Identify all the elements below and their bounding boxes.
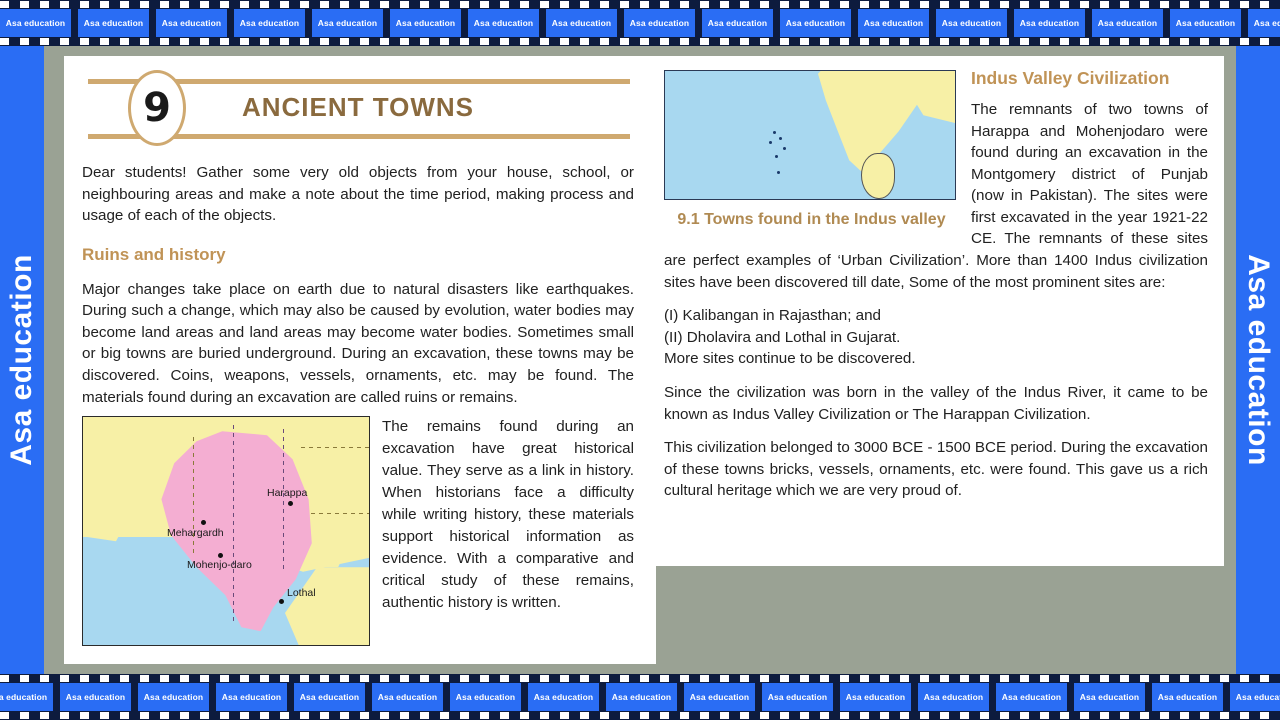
film-frame-label: Asa education xyxy=(318,18,377,28)
film-frame-label: Asa education xyxy=(786,18,845,28)
film-frame-label: Asa education xyxy=(768,692,827,702)
film-frame-label: Asa education xyxy=(162,18,221,28)
film-frame-label: Asa education xyxy=(1080,692,1139,702)
site-list-item-1: (I) Kalibangan in Rajasthan; and xyxy=(664,305,1208,327)
film-frame-label: Asa education xyxy=(84,18,143,28)
film-frame: Asa education xyxy=(156,9,227,37)
film-frame: Asa education xyxy=(78,9,149,37)
film-perforations-bottom xyxy=(0,712,1280,719)
film-perforations-top xyxy=(0,1,1280,8)
prominent-sites-list: (I) Kalibangan in Rajasthan; and (II) Dh… xyxy=(664,305,1208,370)
film-frame: Asa education xyxy=(294,683,365,711)
film-frame: Asa education xyxy=(312,9,383,37)
film-frame-label: Asa education xyxy=(708,18,767,28)
film-frame: Asa education xyxy=(858,9,929,37)
film-frame: Asa education xyxy=(996,683,1067,711)
figure-side-paragraph: The remains found during an excavation h… xyxy=(382,416,634,614)
textbook-page-right: 9.1 Towns found in the Indus valley Indu… xyxy=(656,56,1224,566)
indus-paragraph-2: Since the civilization was born in the v… xyxy=(664,382,1208,425)
film-frame: Asa education xyxy=(762,683,833,711)
film-frame: Asa education xyxy=(936,9,1007,37)
film-frame: Asa education xyxy=(450,683,521,711)
film-frame-label: Asa education xyxy=(1020,18,1079,28)
film-frame: Asa education xyxy=(138,683,209,711)
site-list-item-2: (II) Dholavira and Lothal in Gujarat. xyxy=(664,327,1208,349)
section-heading-ruins: Ruins and history xyxy=(82,245,634,265)
film-frame-label: Asa education xyxy=(240,18,299,28)
film-frame: Asa education xyxy=(684,683,755,711)
film-frame: Asa education xyxy=(546,9,617,37)
intro-paragraph: Dear students! Gather some very old obje… xyxy=(82,162,634,227)
film-frame-label: Asa education xyxy=(534,692,593,702)
map-site-label-harappa: Harappa xyxy=(267,487,307,499)
section-heading-indus-valley: Indus Valley Civilization xyxy=(971,68,1210,89)
film-frame: Asa education xyxy=(234,9,305,37)
film-frame: Asa education xyxy=(780,9,851,37)
film-frame: Asa education xyxy=(702,9,773,37)
film-frame: Asa education xyxy=(0,9,71,37)
ruins-paragraph: Major changes take place on earth due to… xyxy=(82,279,634,408)
film-frame: Asa education xyxy=(216,683,287,711)
figure-9-1-block: 9.1 Towns found in the Indus valley xyxy=(664,70,959,231)
slide-canvas: Asa educationAsa educationAsa educationA… xyxy=(0,0,1280,720)
south-india-srilanka-map xyxy=(664,70,956,200)
film-frame-label: Asa education xyxy=(0,692,47,702)
film-frame-label: Asa education xyxy=(1098,18,1157,28)
film-frame-label: Asa education xyxy=(1158,692,1217,702)
figure-9-1-caption: 9.1 Towns found in the Indus valley xyxy=(664,210,959,231)
film-frame-label: Asa education xyxy=(1002,692,1061,702)
film-frame: Asa education xyxy=(60,683,131,711)
film-frame: Asa education xyxy=(1230,683,1280,711)
film-frame-row-top: Asa educationAsa educationAsa educationA… xyxy=(0,9,1280,37)
sidebar-watermark-right-text: Asa education xyxy=(1241,254,1275,466)
film-frame-label: Asa education xyxy=(222,692,281,702)
film-frame: Asa education xyxy=(1170,9,1241,37)
sidebar-watermark-right: Asa education xyxy=(1236,46,1280,674)
film-frame: Asa education xyxy=(528,683,599,711)
site-list-item-3: More sites continue to be discovered. xyxy=(664,348,1208,370)
filmstrip-bottom-watermark: Asa educationAsa educationAsa educationA… xyxy=(0,674,1280,720)
film-frame-label: Asa education xyxy=(1236,692,1280,702)
filmstrip-top-watermark: Asa educationAsa educationAsa educationA… xyxy=(0,0,1280,46)
film-frame-label: Asa education xyxy=(300,692,359,702)
film-frame: Asa education xyxy=(918,683,989,711)
figure-and-text-row: Harappa Mehargardh Mohenjo-daro Lothal T… xyxy=(82,416,634,646)
film-frame: Asa education xyxy=(390,9,461,37)
film-frame-label: Asa education xyxy=(66,692,125,702)
film-frame: Asa education xyxy=(624,9,695,37)
film-frame-label: Asa education xyxy=(456,692,515,702)
film-frame-label: Asa education xyxy=(552,18,611,28)
film-frame-label: Asa education xyxy=(924,692,983,702)
film-frame-label: Asa education xyxy=(690,692,749,702)
film-frame-row-bottom: Asa educationAsa educationAsa educationA… xyxy=(0,683,1280,711)
chapter-number-text: 9 xyxy=(143,85,171,131)
film-frame-label: Asa education xyxy=(6,18,65,28)
film-frame-label: Asa education xyxy=(1254,18,1280,28)
film-frame: Asa education xyxy=(606,683,677,711)
film-frame-label: Asa education xyxy=(846,692,905,702)
film-frame: Asa education xyxy=(372,683,443,711)
film-perforations-top xyxy=(0,675,1280,682)
film-frame: Asa education xyxy=(1014,9,1085,37)
film-frame: Asa education xyxy=(468,9,539,37)
film-frame: Asa education xyxy=(0,683,53,711)
film-frame-label: Asa education xyxy=(612,692,671,702)
film-frame-label: Asa education xyxy=(144,692,203,702)
film-perforations-bottom xyxy=(0,38,1280,45)
film-frame-label: Asa education xyxy=(378,692,437,702)
indus-valley-sites-map: Harappa Mehargardh Mohenjo-daro Lothal xyxy=(82,416,370,646)
film-frame: Asa education xyxy=(1248,9,1280,37)
film-frame: Asa education xyxy=(1092,9,1163,37)
film-frame-label: Asa education xyxy=(630,18,689,28)
film-frame: Asa education xyxy=(1074,683,1145,711)
indus-paragraph-3: This civilization belonged to 3000 BCE -… xyxy=(664,437,1208,502)
textbook-page-left: 9 ANCIENT TOWNS Dear students! Gather so… xyxy=(64,56,656,664)
film-frame-label: Asa education xyxy=(474,18,533,28)
film-frame: Asa education xyxy=(840,683,911,711)
chapter-number-badge: 9 xyxy=(128,70,186,146)
sidebar-watermark-left: Asa education xyxy=(0,46,44,674)
film-frame: Asa education xyxy=(1152,683,1223,711)
film-frame-label: Asa education xyxy=(864,18,923,28)
chapter-header: 9 ANCIENT TOWNS xyxy=(80,70,636,148)
film-frame-label: Asa education xyxy=(396,18,455,28)
sidebar-watermark-left-text: Asa education xyxy=(5,254,39,466)
map-site-label-mehargardh: Mehargardh xyxy=(167,527,224,539)
film-frame-label: Asa education xyxy=(1176,18,1235,28)
map-site-label-mohenjodaro: Mohenjo-daro xyxy=(187,559,252,571)
film-frame-label: Asa education xyxy=(942,18,1001,28)
map-site-label-lothal: Lothal xyxy=(287,587,316,599)
